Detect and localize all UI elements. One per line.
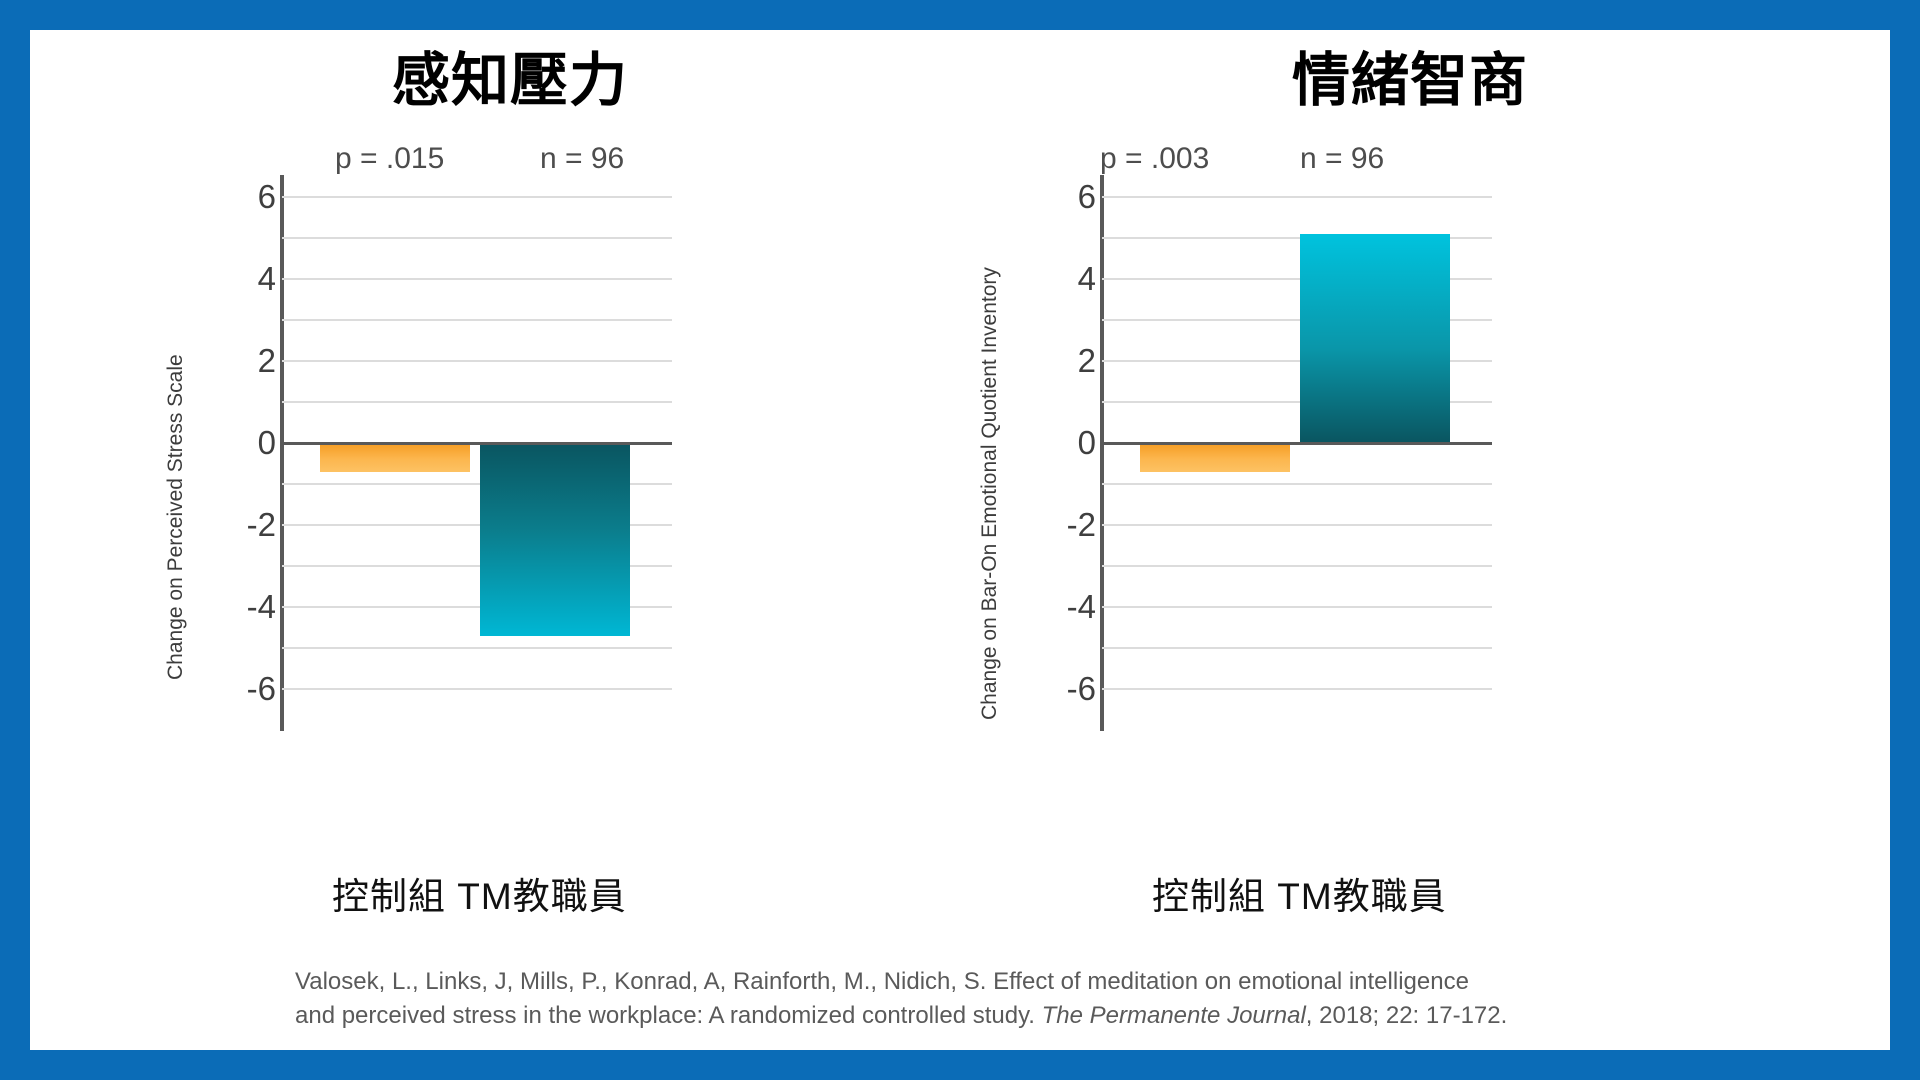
chart-title-left: 感知壓力 bbox=[60, 52, 960, 110]
y-axis-tick-label: 4 bbox=[1026, 262, 1096, 295]
chart-panel-perceived-stress: 感知壓力 p = .015 n = 96 Change on Perceived… bbox=[60, 30, 960, 930]
zero-baseline bbox=[282, 442, 672, 445]
gridline bbox=[282, 647, 672, 649]
bar-control bbox=[1140, 443, 1290, 472]
y-axis-tick-label: -6 bbox=[206, 672, 276, 705]
y-axis-tick-label: -4 bbox=[206, 590, 276, 623]
citation-line-2: and perceived stress in the workplace: A… bbox=[295, 999, 1695, 1033]
y-axis-tick-label: 6 bbox=[1026, 180, 1096, 213]
gridline bbox=[282, 196, 672, 198]
category-labels-right: 控制組 TM教職員 bbox=[1152, 866, 1447, 920]
y-axis-tick-label: -2 bbox=[1026, 508, 1096, 541]
gridline bbox=[282, 319, 672, 321]
slide-frame: 感知壓力 p = .015 n = 96 Change on Perceived… bbox=[30, 30, 1890, 1050]
citation-line-1: Valosek, L., Links, J, Mills, P., Konrad… bbox=[295, 965, 1695, 999]
y-axis-tick-label: 6 bbox=[206, 180, 276, 213]
plot-area-left: 6420-2-4-6 bbox=[282, 197, 672, 689]
y-axis-tick-label: -6 bbox=[1026, 672, 1096, 705]
y-axis-tick-label: -4 bbox=[1026, 590, 1096, 623]
gridline bbox=[1102, 606, 1492, 608]
gridline bbox=[282, 360, 672, 362]
y-axis-tick-label: 0 bbox=[206, 426, 276, 459]
citation-text: Valosek, L., Links, J, Mills, P., Konrad… bbox=[295, 965, 1695, 1033]
plot-area-right: 6420-2-4-6 bbox=[1102, 197, 1492, 689]
y-axis-tick-label: 2 bbox=[206, 344, 276, 377]
y-axis-tick-label: 4 bbox=[206, 262, 276, 295]
gridline bbox=[282, 688, 672, 690]
bar-tm-staff bbox=[1300, 234, 1450, 443]
bar-tm-staff bbox=[480, 443, 630, 636]
citation-line-2-part-b: , 2018; 22: 17-172. bbox=[1306, 1002, 1508, 1029]
chart-panel-emotional-intelligence: 情緒智商 p = .003 n = 96 Change on Bar-On Em… bbox=[960, 30, 1860, 930]
gridline bbox=[1102, 196, 1492, 198]
charts-row: 感知壓力 p = .015 n = 96 Change on Perceived… bbox=[30, 30, 1890, 930]
gridline bbox=[1102, 524, 1492, 526]
gridline bbox=[1102, 565, 1492, 567]
category-labels-left: 控制組 TM教職員 bbox=[332, 866, 627, 920]
gridline bbox=[282, 237, 672, 239]
gridline bbox=[282, 401, 672, 403]
y-axis-title-left: Change on Perceived Stress Scale bbox=[164, 354, 188, 680]
gridline bbox=[1102, 647, 1492, 649]
gridline bbox=[1102, 483, 1492, 485]
y-axis-tick-label: -2 bbox=[206, 508, 276, 541]
zero-baseline bbox=[1102, 442, 1492, 445]
n-value-label-left: n = 96 bbox=[540, 142, 624, 176]
y-axis-title-right: Change on Bar-On Emotional Quotient Inve… bbox=[978, 267, 1002, 720]
citation-line-2-part-a: and perceived stress in the workplace: A… bbox=[295, 1002, 1042, 1029]
p-value-label-right: p = .003 bbox=[1100, 142, 1209, 176]
y-axis-tick-label: 2 bbox=[1026, 344, 1096, 377]
p-value-label-left: p = .015 bbox=[335, 142, 444, 176]
gridline bbox=[282, 278, 672, 280]
y-axis-tick-label: 0 bbox=[1026, 426, 1096, 459]
n-value-label-right: n = 96 bbox=[1300, 142, 1384, 176]
chart-title-right: 情緒智商 bbox=[960, 52, 1860, 110]
gridline bbox=[1102, 688, 1492, 690]
bar-control bbox=[320, 443, 470, 472]
citation-journal-name: The Permanente Journal bbox=[1042, 1002, 1306, 1029]
